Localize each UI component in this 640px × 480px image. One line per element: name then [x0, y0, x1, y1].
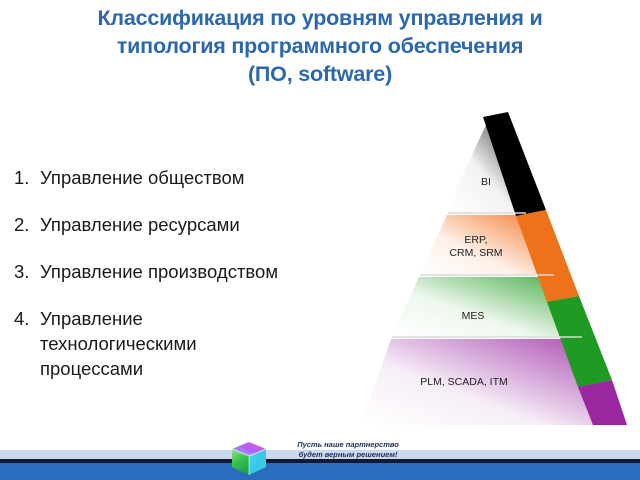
list-item-label-line-3: процессами: [40, 356, 197, 381]
cube-logo-icon: [230, 440, 270, 478]
footer-slogan: Пусть наше партнерство будет верным реше…: [278, 440, 418, 460]
pyramid-label-bi: BI: [436, 176, 536, 189]
slide-canvas: Классификация по уровням управления и ти…: [0, 0, 640, 480]
pyramid-label-erp-line-2: CRM, SRM: [416, 247, 536, 260]
title-line-2: типология программного обеспечения: [12, 32, 628, 60]
software-levels-pyramid: BI ERP, CRM, SRM MES PLM, SCADA, ITM: [330, 112, 635, 432]
list-item-number: 3.: [14, 259, 40, 284]
pyramid-label-plm: PLM, SCADA, ITM: [374, 376, 554, 389]
list-item: 2. Управление ресурсами: [14, 212, 354, 237]
footer-slogan-line-1: Пусть наше партнерство: [278, 440, 418, 450]
footer-brand-name: РЕШЕНИЕ-ВЕРНОЕ.РФ: [272, 462, 424, 477]
list-item-label: Управление производством: [40, 259, 278, 284]
pyramid-label-mes: MES: [418, 310, 528, 323]
list-item: 4. Управление технологическими процессам…: [14, 306, 354, 381]
list-item-number: 1.: [14, 165, 40, 190]
list-item-number: 4.: [14, 306, 40, 331]
title-line-3: (ПО, software): [12, 60, 628, 88]
list-item-label: Управление технологическими процессами: [40, 306, 197, 381]
title-line-1: Классификация по уровням управления и: [12, 4, 628, 32]
list-item-label: Управление ресурсами: [40, 212, 240, 237]
footer-branding: Пусть наше партнерство будет верным реше…: [228, 436, 418, 480]
list-item: 1. Управление обществом: [14, 165, 354, 190]
footer-slogan-line-2: будет верным решением!: [278, 450, 418, 460]
pyramid-label-erp: ERP, CRM, SRM: [416, 234, 536, 259]
list-item-label: Управление обществом: [40, 165, 245, 190]
cube-icon-svg: [230, 440, 270, 478]
list-item-label-line-1: Управление: [40, 306, 197, 331]
management-levels-list: 1. Управление обществом 2. Управление ре…: [14, 165, 354, 381]
page-title: Классификация по уровням управления и ти…: [12, 4, 628, 88]
list-item-label-line-2: технологическими: [40, 331, 197, 356]
pyramid-label-erp-line-1: ERP,: [416, 234, 536, 247]
list-item: 3. Управление производством: [14, 259, 354, 284]
list-item-number: 2.: [14, 212, 40, 237]
